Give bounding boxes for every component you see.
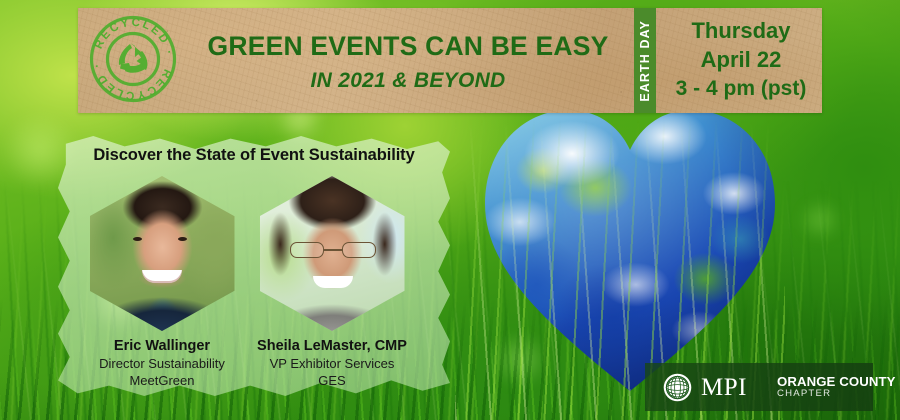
earth-day-band: EARTH DAY [634, 8, 656, 113]
poster-canvas: RECYCLED · RECYCLED RECYCLED · RECYCLED … [0, 0, 900, 420]
speaker-org: GES [248, 372, 416, 389]
speaker-role: Director Sustainability [78, 355, 246, 372]
chapter-label: CHAPTER [777, 389, 896, 400]
speaker-org: MeetGreen [78, 372, 246, 389]
headline-title: GREEN EVENTS CAN BE EASY [208, 33, 609, 60]
chapter-name: ORANGE COUNTY [777, 375, 896, 389]
mpi-wordmark: MPI [701, 375, 747, 400]
event-time: 3 - 4 pm (pst) [676, 76, 807, 102]
speaker-name: Sheila LeMaster, CMP [248, 337, 416, 355]
mpi-globe-mark-icon [663, 373, 692, 402]
portrait-smile [313, 276, 353, 288]
chapter-name-block: ORANGE COUNTY CHAPTER [777, 375, 896, 400]
recycled-stamp-icon: RECYCLED · RECYCLED RECYCLED · RECYCLED [82, 8, 184, 110]
banner-headline-block: GREEN EVENTS CAN BE EASY IN 2021 & BEYON… [188, 20, 628, 104]
speaker-name: Eric Wallinger [78, 337, 246, 355]
speaker-role: VP Exhibitor Services [248, 355, 416, 372]
event-date: April 22 [701, 47, 782, 74]
speaker-card: Sheila LeMaster, CMP VP Exhibitor Servic… [248, 176, 416, 389]
portrait-smile [142, 270, 182, 283]
portrait-eye-right [178, 237, 187, 241]
panel-title: Discover the State of Event Sustainabili… [58, 146, 450, 165]
event-day: Thursday [691, 18, 790, 45]
headline-subtitle: IN 2021 & BEYOND [310, 70, 505, 91]
speaker-photo-sheila-lemaster [260, 176, 405, 331]
mpi-logo-bar: MPI ORANGE COUNTY CHAPTER [645, 363, 873, 411]
speaker-card: Eric Wallinger Director Sustainability M… [78, 176, 246, 389]
portrait-eye-left [133, 237, 142, 241]
portrait-glasses-icon [290, 242, 376, 258]
earth-day-label: EARTH DAY [638, 20, 652, 102]
portrait-image [90, 176, 235, 331]
speaker-photo-eric-wallinger [90, 176, 235, 331]
event-date-block: Thursday April 22 3 - 4 pm (pst) [660, 10, 822, 110]
